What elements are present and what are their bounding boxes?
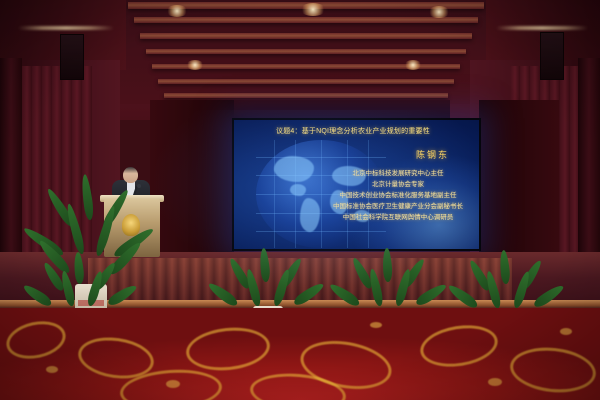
ceiling-light-1 bbox=[166, 5, 188, 17]
conference-hall-photo: 议题4：基于NQI理念分析农业产业规划的重要性 陈钢东 北京中标科技发展研究中心… bbox=[0, 0, 600, 400]
led-screen: 议题4：基于NQI理念分析农业产业规划的重要性 陈钢东 北京中标科技发展研究中心… bbox=[232, 118, 481, 251]
screen-surround-right bbox=[479, 100, 559, 252]
microphone-head-icon bbox=[137, 184, 141, 188]
carpet-dot-3 bbox=[370, 322, 382, 328]
ceiling-light-strip-left bbox=[18, 26, 114, 30]
carpet-dot-2 bbox=[166, 380, 180, 388]
ceiling-beam-4 bbox=[146, 49, 466, 54]
carpet-dot-1 bbox=[46, 366, 58, 373]
carpet-motif-3 bbox=[184, 324, 272, 375]
carpet-motif-5 bbox=[417, 320, 500, 372]
affiliation-line-2: 北京计量协会专家 bbox=[323, 179, 473, 190]
ceiling-beam-6 bbox=[158, 79, 454, 84]
ceiling-beam-7 bbox=[164, 93, 448, 98]
presenter-name: 陈钢东 bbox=[416, 148, 449, 161]
led-screen-content: 议题4：基于NQI理念分析农业产业规划的重要性 陈钢东 北京中标科技发展研究中心… bbox=[234, 120, 479, 249]
affiliation-line-4: 中国标准协会医疗卫生健康产业分会副秘书长 bbox=[323, 201, 473, 212]
ceiling-beam-3 bbox=[140, 33, 472, 39]
ceiling-beam-2 bbox=[134, 17, 478, 23]
carpet bbox=[0, 308, 600, 400]
ceiling-light-4 bbox=[186, 60, 204, 70]
carpet-motif-1 bbox=[3, 316, 69, 364]
carpet-dot-5 bbox=[560, 328, 572, 335]
carpet-motif-6 bbox=[508, 344, 598, 397]
screen-surround-left bbox=[150, 100, 234, 252]
carpet-dot-4 bbox=[488, 378, 502, 386]
ceiling-light-2 bbox=[300, 3, 326, 16]
affiliation-line-1: 北京中标科技发展研究中心主任 bbox=[323, 168, 473, 179]
affiliation-line-3: 中国技术创业协会标准化服务基地副主任 bbox=[323, 190, 473, 201]
speaker-box-right bbox=[540, 32, 564, 80]
affiliation-line-5: 中国社会科学院互联网舆情中心调研员 bbox=[323, 212, 473, 223]
ceiling-light-strip-right bbox=[496, 26, 588, 30]
ceiling-light-5 bbox=[404, 60, 422, 70]
slide-title: 议题4：基于NQI理念分析农业产业规划的重要性 bbox=[276, 126, 476, 136]
presenter-affiliations: 北京中标科技发展研究中心主任 北京计量协会专家 中国技术创业协会标准化服务基地副… bbox=[323, 168, 473, 223]
ceiling-light-3 bbox=[428, 6, 450, 18]
speaker-box-left bbox=[60, 34, 84, 80]
